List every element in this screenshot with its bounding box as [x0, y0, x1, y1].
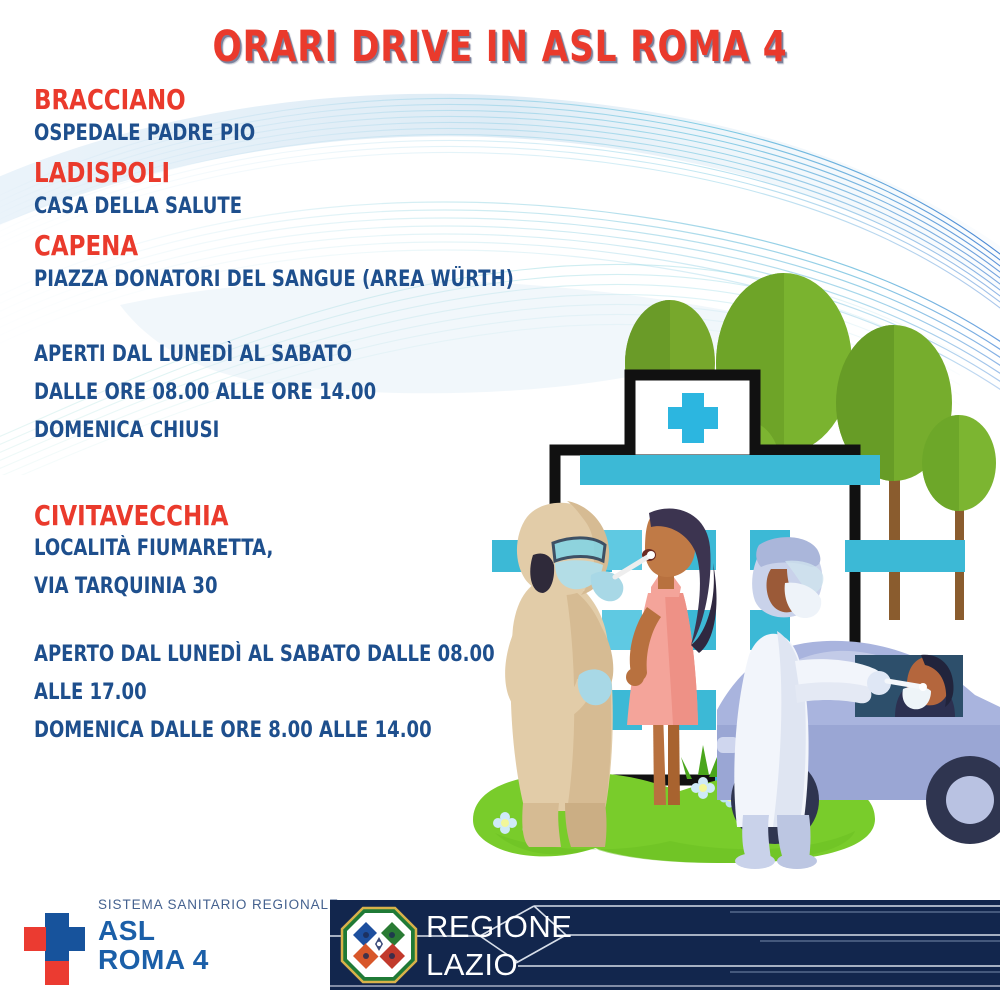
poster-canvas: ORARI DRIVE IN ASL ROMA 4 BRACCIANO OSPE… [0, 0, 1000, 1000]
hours2-line-3: DOMENICA DALLE ORE 8.00 ALLE 14.00 [34, 720, 387, 742]
location-city-ladispoli: LADISPOLI [34, 159, 387, 187]
spacer-3 [34, 614, 464, 644]
spacer-2 [34, 458, 464, 502]
asl-roma-4-label: ASL ROMA 4 [98, 917, 209, 974]
location-detail-capena: PIAZZA DONATORI DEL SANGUE (AREA WÜRTH) [34, 268, 387, 291]
hours-line-1: APERTI DAL LUNEDÌ AL SABATO [34, 344, 387, 366]
regione-label: REGIONE [426, 908, 572, 946]
location-detail-ladispoli: CASA DELLA SALUTE [34, 195, 387, 218]
drive-in-testing-illustration [455, 255, 1000, 875]
tree-far-right [922, 415, 996, 620]
hours-line-2: DALLE ORE 08.00 ALLE ORE 14.00 [34, 382, 387, 404]
regione-lazio-label: REGIONE LAZIO [426, 908, 572, 984]
lazio-label: LAZIO [426, 946, 572, 984]
regione-lazio-banner: REGIONE LAZIO [330, 900, 1000, 990]
asl-roma-4-logo: SISTEMA SANITARIO REGIONALE ASL ROMA 4 [16, 895, 326, 995]
hours2-line-1: APERTO DAL LUNEDÌ AL SABATO DALLE 08.00 [34, 644, 387, 666]
location-city-bracciano: BRACCIANO [34, 86, 387, 114]
page-title: ORARI DRIVE IN ASL ROMA 4 [100, 22, 900, 72]
asl-cross-icon [24, 913, 90, 985]
location-detail-bracciano: OSPEDALE PADRE PIO [34, 122, 387, 145]
hours2-line-2: ALLE 17.00 [34, 682, 387, 704]
footer-logo-bar: SISTEMA SANITARIO REGIONALE ASL ROMA 4 [0, 895, 1000, 1000]
asl-label-line-1: ASL [98, 917, 209, 946]
hours-line-3: DOMENICA CHIUSI [34, 420, 387, 442]
spacer-1 [34, 300, 464, 344]
location-city-capena: CAPENA [34, 232, 387, 260]
sistema-sanitario-regionale-label: SISTEMA SANITARIO REGIONALE [98, 897, 339, 912]
location-detail-civitavecchia-line-1: LOCALITÀ FIUMARETTA, [34, 538, 387, 560]
locations-text-column: BRACCIANO OSPEDALE PADRE PIO LADISPOLI C… [34, 86, 464, 758]
asl-label-line-2: ROMA 4 [98, 946, 209, 975]
regione-lazio-crest-icon [340, 906, 418, 984]
location-detail-civitavecchia-line-2: VIA TARQUINIA 30 [34, 576, 387, 598]
location-city-civitavecchia: CIVITAVECCHIA [34, 502, 387, 530]
